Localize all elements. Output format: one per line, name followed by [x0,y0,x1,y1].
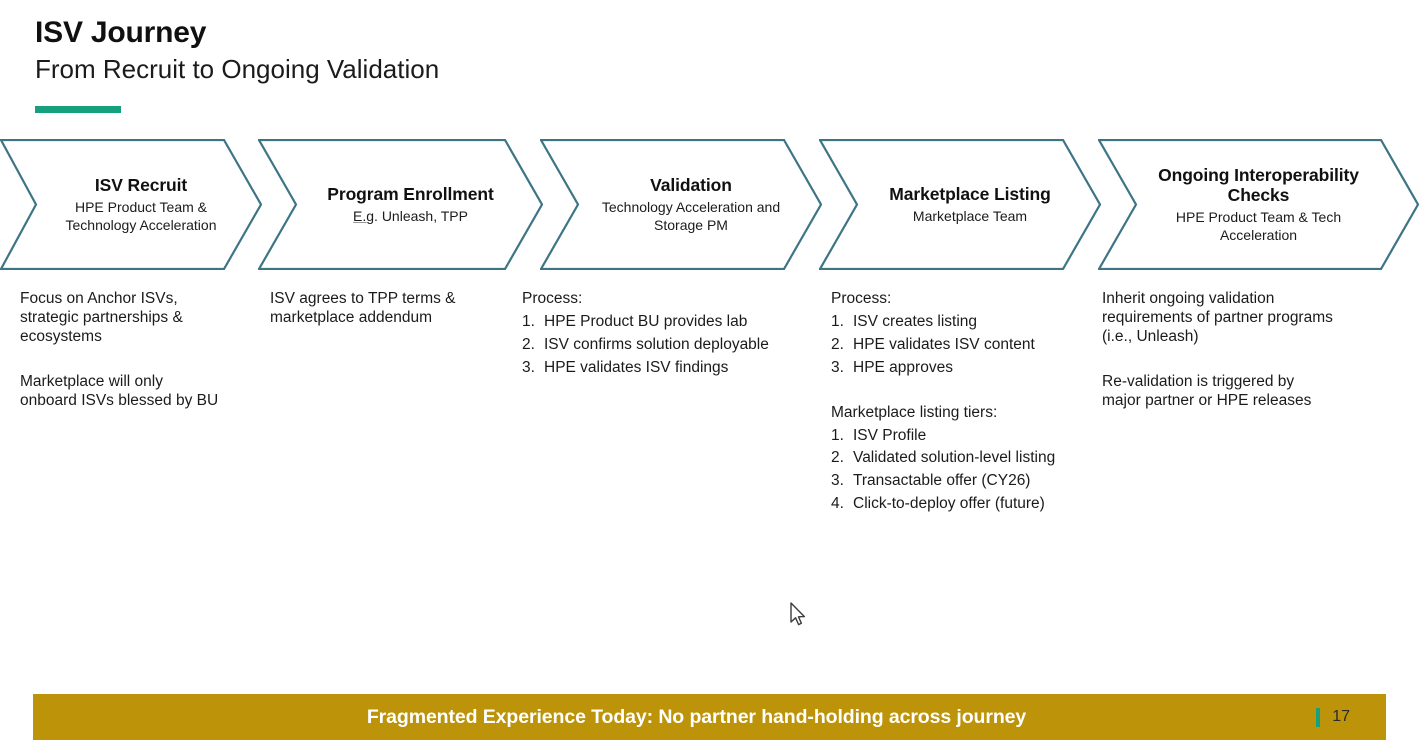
detail-paragraph: ISV agrees to TPP terms & marketplace ad… [270,290,510,328]
detail-list-lead: Process: [522,290,822,309]
stage-5-title-line-1: Ongoing Interoperability [1158,165,1359,185]
stage-2-subtitle-prefix: E.g [353,208,374,224]
stage-5-title-line-2: Checks [1228,185,1290,205]
detail-line: (i.e., Unleash) [1102,328,1198,345]
spacer [1102,351,1392,373]
stage-5-text: Ongoing Interoperability Checks HPE Prod… [1098,165,1419,245]
title-accent-rule [35,106,121,113]
process-stage-ongoing-interoperability-checks[interactable]: Ongoing Interoperability Checks HPE Prod… [1098,139,1419,270]
list-item-label: Click-to-deploy offer (future) [853,495,1111,514]
list-item-label: ISV Profile [853,427,1111,446]
list-item-label: HPE validates ISV findings [544,359,822,378]
detail-line: Focus on Anchor ISVs, [20,290,178,307]
stage-3-subtitle: Technology Acceleration and Storage PM [566,198,816,234]
detail-numbered-list: 1.ISV creates listing 2.HPE validates IS… [831,313,1111,378]
stage-2-text: Program Enrollment E.g. Unleash, TPP [258,184,543,225]
list-item: 3.HPE validates ISV findings [522,359,822,378]
list-item-label: HPE approves [853,359,1111,378]
detail-list-lead: Marketplace listing tiers: [831,404,1111,423]
list-item-number: 4. [831,495,853,514]
spacer [831,382,1111,404]
detail-paragraph: Focus on Anchor ISVs, strategic partners… [20,290,250,347]
page-number: 17 [1332,708,1350,726]
stage-detail-column-5: Inherit ongoing validation requirements … [1102,290,1392,415]
list-item: 4.Click-to-deploy offer (future) [831,495,1111,514]
stage-2-title: Program Enrollment [284,184,537,204]
stage-1-text: ISV Recruit HPE Product Team & Technolog… [0,175,262,235]
stage-4-title: Marketplace Listing [845,184,1095,204]
page-title: ISV Journey [35,16,935,49]
list-item-label: HPE validates ISV content [853,336,1111,355]
list-item: 1.ISV Profile [831,427,1111,446]
process-stage-isv-recruit[interactable]: ISV Recruit HPE Product Team & Technolog… [0,139,262,270]
footer-callout-band: Fragmented Experience Today: No partner … [33,694,1386,740]
stage-5-subtitle-line-2: Acceleration [1220,227,1297,243]
process-stage-marketplace-listing[interactable]: Marketplace Listing Marketplace Team [819,139,1101,270]
detail-line: onboard ISVs blessed by BU [20,392,218,409]
list-item-number: 2. [522,336,544,355]
slide-canvas: ISV Journey From Recruit to Ongoing Vali… [0,0,1419,749]
process-chevron-row: ISV Recruit HPE Product Team & Technolog… [0,139,1419,270]
stage-5-subtitle-line-1: HPE Product Team & Tech [1176,209,1341,225]
detail-list-lead: Process: [831,290,1111,309]
stage-3-title: Validation [566,175,816,195]
stage-1-subtitle-line-2: Technology Acceleration [66,217,217,233]
detail-paragraph: Inherit ongoing validation requirements … [1102,290,1392,347]
list-item-number: 1. [831,427,853,446]
stage-detail-column-1: Focus on Anchor ISVs, strategic partners… [20,290,250,415]
stage-4-subtitle-line-1: Marketplace Team [913,208,1027,224]
detail-line: major partner or HPE releases [1102,392,1311,409]
list-item-label: ISV creates listing [853,313,1111,332]
list-item: 2.HPE validates ISV content [831,336,1111,355]
stage-3-subtitle-line-2: Storage PM [654,217,728,233]
list-item: 2.ISV confirms solution deployable [522,336,822,355]
stage-3-subtitle-line-1: Technology Acceleration and [602,199,780,215]
footer-callout-text: Fragmented Experience Today: No partner … [367,706,1026,729]
list-item: 1.HPE Product BU provides lab [522,313,822,332]
list-item-number: 2. [831,336,853,355]
footer-page-number-group: 17 [1316,694,1350,740]
stage-1-title: ISV Recruit [26,175,256,195]
list-item-number: 1. [831,313,853,332]
detail-paragraph: Re-validation is triggered by major part… [1102,373,1392,411]
stage-1-subtitle: HPE Product Team & Technology Accelerati… [26,198,256,234]
detail-line: strategic partnerships & [20,309,183,326]
detail-line: Inherit ongoing validation [1102,290,1274,307]
list-item: 3.HPE approves [831,359,1111,378]
detail-paragraph: Marketplace will only onboard ISVs bless… [20,373,250,411]
list-item-label: HPE Product BU provides lab [544,313,822,332]
list-item: 3.Transactable offer (CY26) [831,472,1111,491]
list-item: 1.ISV creates listing [831,313,1111,332]
stage-1-subtitle-line-1: HPE Product Team & [75,199,207,215]
spacer [20,351,250,373]
list-item-number: 3. [831,359,853,378]
process-stage-validation[interactable]: Validation Technology Acceleration and S… [540,139,822,270]
stage-4-subtitle: Marketplace Team [845,207,1095,225]
stage-detail-columns: Focus on Anchor ISVs, strategic partners… [0,290,1419,620]
footer-accent-bar [1316,708,1320,727]
stage-detail-column-3: Process: 1.HPE Product BU provides lab 2… [522,290,822,382]
stage-2-subtitle: E.g. Unleash, TPP [284,207,537,225]
stage-3-text: Validation Technology Acceleration and S… [540,175,822,235]
list-item-label: Validated solution-level listing [853,449,1111,468]
page-subtitle: From Recruit to Ongoing Validation [35,55,935,85]
detail-line: Marketplace will only [20,373,163,390]
list-item-label: ISV confirms solution deployable [544,336,822,355]
detail-line: ecosystems [20,328,102,345]
stage-5-title: Ongoing Interoperability Checks [1120,165,1397,205]
process-stage-program-enrollment[interactable]: Program Enrollment E.g. Unleash, TPP [258,139,543,270]
detail-line: requirements of partner programs [1102,309,1333,326]
list-item-label: Transactable offer (CY26) [853,472,1111,491]
list-item: 2.Validated solution-level listing [831,449,1111,468]
list-item-number: 3. [522,359,544,378]
stage-5-subtitle: HPE Product Team & Tech Acceleration [1120,208,1397,244]
detail-line: ISV agrees to TPP terms & [270,290,456,307]
list-item-number: 1. [522,313,544,332]
detail-line: marketplace addendum [270,309,432,326]
stage-detail-column-4: Process: 1.ISV creates listing 2.HPE val… [831,290,1111,518]
stage-4-text: Marketplace Listing Marketplace Team [819,184,1101,225]
detail-numbered-list: 1.ISV Profile 2.Validated solution-level… [831,427,1111,515]
detail-line: Re-validation is triggered by [1102,373,1294,390]
stage-2-subtitle-rest: . Unleash, TPP [374,208,468,224]
detail-numbered-list: 1.HPE Product BU provides lab 2.ISV conf… [522,313,822,378]
list-item-number: 3. [831,472,853,491]
list-item-number: 2. [831,449,853,468]
title-block: ISV Journey From Recruit to Ongoing Vali… [35,16,935,85]
stage-detail-column-2: ISV agrees to TPP terms & marketplace ad… [270,290,510,332]
